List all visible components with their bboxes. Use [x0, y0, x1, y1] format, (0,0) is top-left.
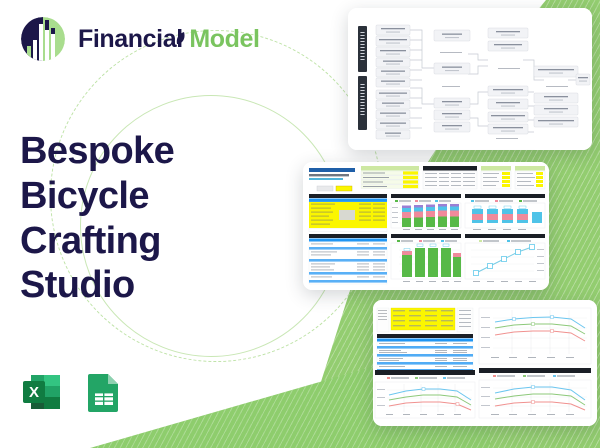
page-title-line-2: Bicycle: [20, 174, 250, 219]
dupont-analysis-diagram: [348, 8, 592, 150]
leaf-icon: [175, 32, 187, 46]
brand-name-part1: Financial: [78, 25, 183, 53]
chart-title-bar-left: [375, 370, 475, 375]
circular-chart-logo-icon: [18, 14, 68, 64]
chart-title-bar-right: [479, 368, 591, 373]
preview-card-dupont-analysis[interactable]: [348, 8, 592, 150]
preview-card-financial-dashboard[interactable]: [303, 162, 549, 290]
poster-canvas: Financial Model Bespoke Bicycle Crafting…: [0, 0, 600, 448]
svg-text:X: X: [29, 384, 39, 401]
brand-name-part2: Model: [189, 25, 259, 53]
page-title-line-4: Studio: [20, 263, 250, 308]
brand-name: Financial Model: [78, 27, 260, 52]
page-title-line-1: Bespoke: [20, 129, 250, 174]
file-format-icons: X: [20, 370, 126, 414]
google-sheets-icon[interactable]: [82, 370, 126, 414]
financial-statements-charts: [373, 300, 597, 426]
page-title: Bespoke Bicycle Crafting Studio: [20, 129, 250, 308]
preview-card-statements-charts[interactable]: [373, 300, 597, 426]
excel-icon[interactable]: X: [20, 370, 64, 414]
page-title-line-3: Crafting: [20, 219, 250, 264]
financial-dashboard: [303, 162, 549, 290]
brand-logo: Financial Model: [18, 14, 260, 64]
